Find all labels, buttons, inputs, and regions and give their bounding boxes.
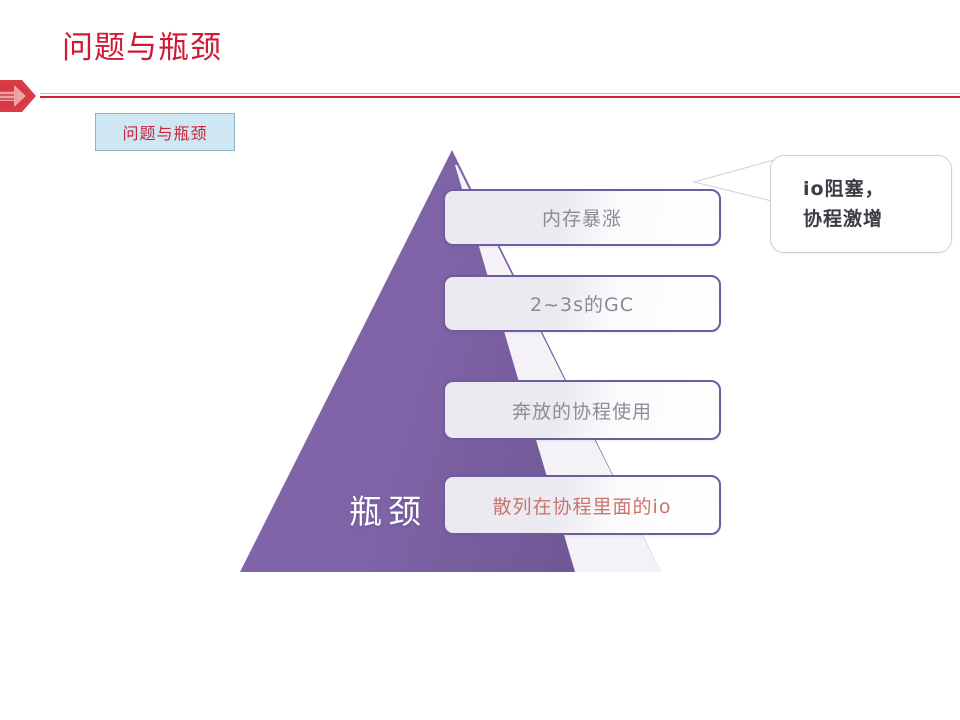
- section-tab-label: 问题与瓶颈: [122, 120, 207, 144]
- pyramid-step-4[interactable]: 散列在协程里面的io: [443, 475, 721, 535]
- pyramid-step-1-label: 内存暴涨: [542, 204, 622, 231]
- header-rule-soft: [40, 93, 960, 94]
- pyramid-step-2[interactable]: 2~3s的GC: [443, 275, 721, 332]
- callout-line-2: 协程激增: [803, 204, 883, 234]
- callout-bubble: io阻塞， 协程激增: [770, 155, 952, 253]
- pyramid-step-4-label: 散列在协程里面的io: [493, 492, 672, 519]
- section-tab[interactable]: 问题与瓶颈: [95, 113, 235, 151]
- slide-canvas: 问题与瓶颈 问题与瓶颈: [0, 0, 960, 720]
- pyramid-step-3[interactable]: 奔放的协程使用: [443, 380, 721, 440]
- right-arrow-badge-icon: [0, 76, 40, 116]
- pyramid-base-label: 瓶颈: [313, 485, 463, 533]
- callout-line-1: io阻塞，: [803, 174, 885, 204]
- page-title: 问题与瓶颈: [62, 28, 222, 68]
- header-rule: [40, 96, 960, 98]
- pyramid-step-1[interactable]: 内存暴涨: [443, 189, 721, 246]
- pyramid-step-2-label: 2~3s的GC: [530, 290, 634, 317]
- pyramid-step-3-label: 奔放的协程使用: [512, 397, 652, 424]
